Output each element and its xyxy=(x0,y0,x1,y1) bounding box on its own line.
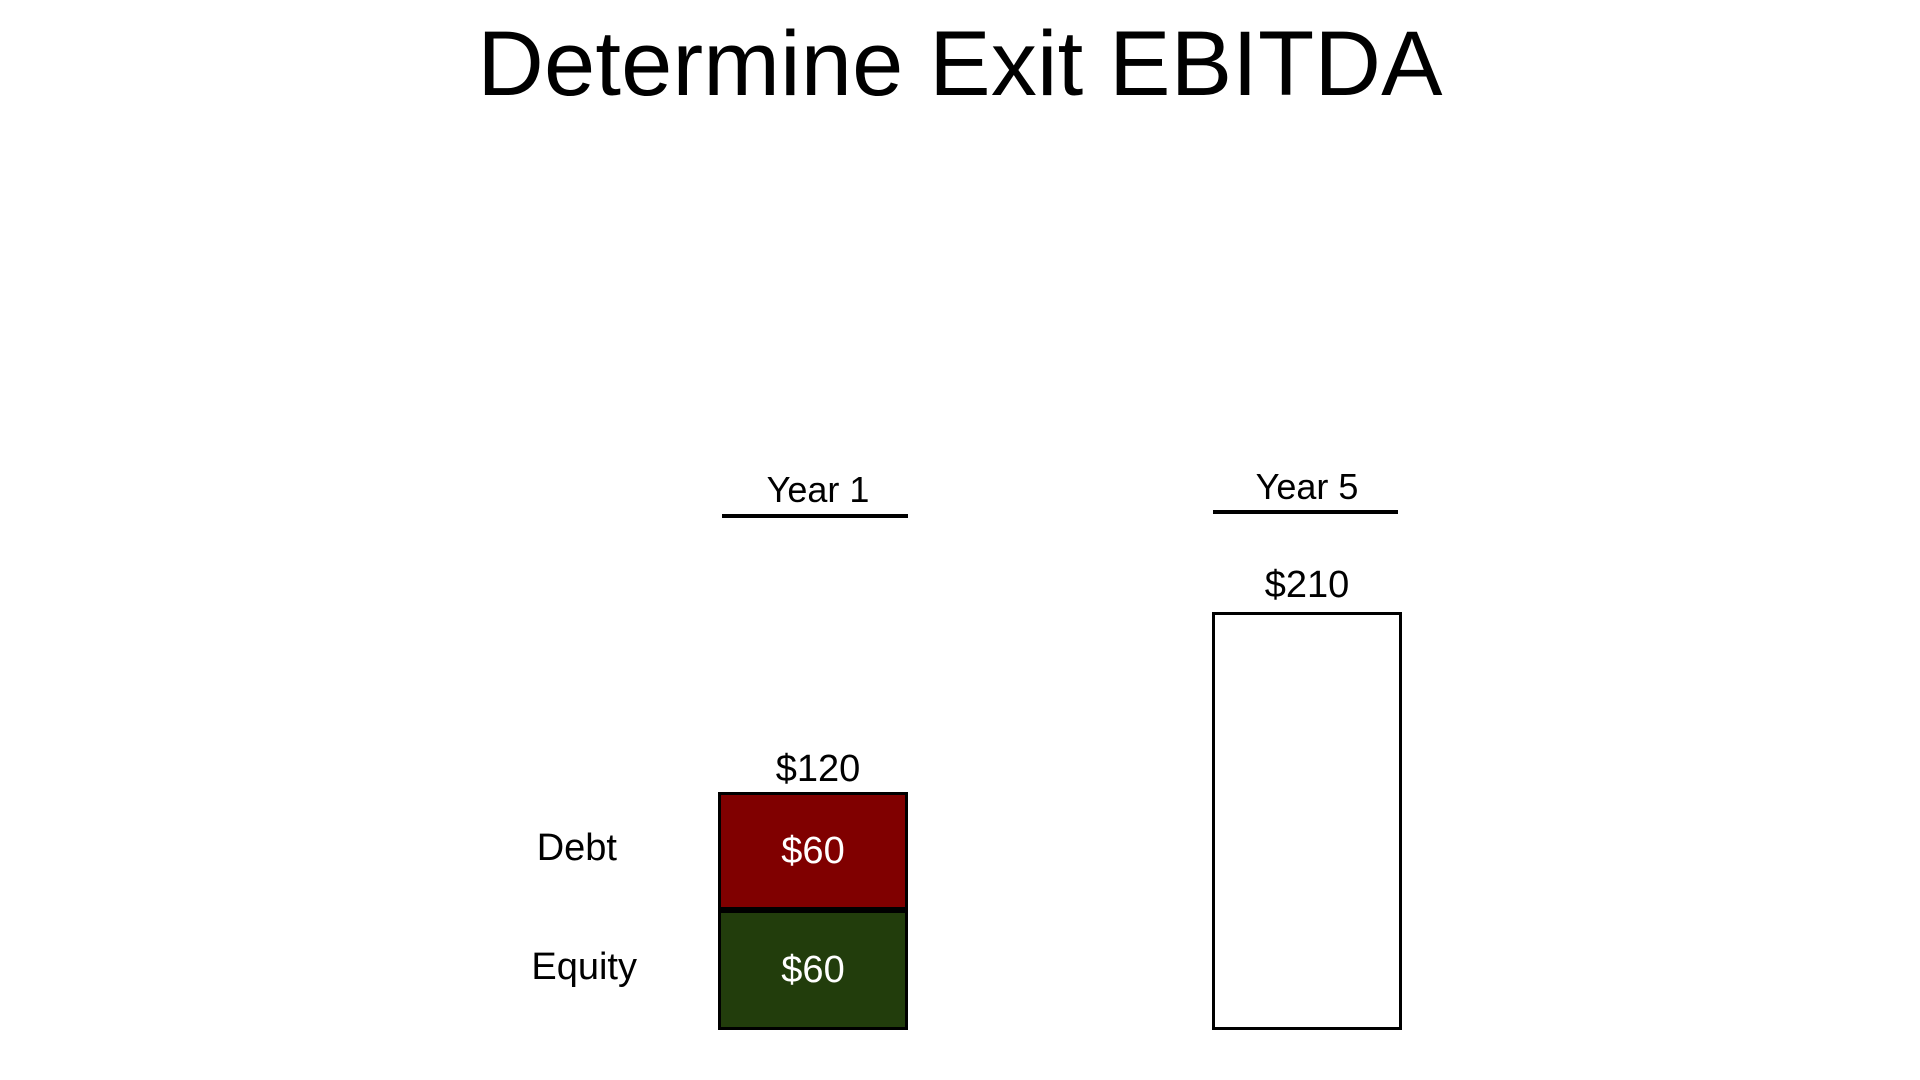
bar-segment-debt-value: $60 xyxy=(781,832,844,870)
column-rule-year-5 xyxy=(1213,510,1398,514)
slide-canvas: Determine Exit EBITDA Year 1 $120 Debt $… xyxy=(0,0,1920,1080)
bar-segment-equity-year-1[interactable]: $60 xyxy=(718,910,908,1030)
row-label-equity: Equity xyxy=(397,947,637,989)
bar-segment-equity-value: $60 xyxy=(781,951,844,989)
page-title: Determine Exit EBITDA xyxy=(0,14,1920,115)
bar-box-year-5[interactable] xyxy=(1212,612,1402,1030)
row-label-debt: Debt xyxy=(377,828,617,870)
total-label-year-1: $120 xyxy=(668,749,968,791)
total-label-year-5: $210 xyxy=(1157,565,1457,607)
column-header-year-5: Year 5 xyxy=(1157,465,1457,508)
bar-segment-debt-year-1[interactable]: $60 xyxy=(718,792,908,910)
column-header-year-1: Year 1 xyxy=(668,468,968,511)
column-rule-year-1 xyxy=(722,514,908,518)
